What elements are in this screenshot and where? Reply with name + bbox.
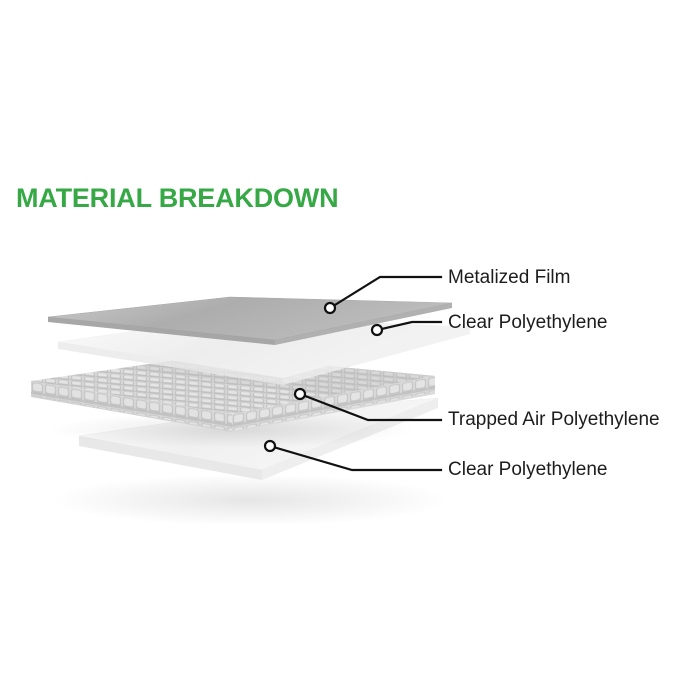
- anchor-dot-clear-polyethylene-top: [372, 325, 382, 335]
- anchor-dot-clear-polyethylene-bottom: [265, 441, 275, 451]
- callout-label-clear-polyethylene-bottom: Clear Polyethylene: [448, 460, 607, 479]
- callout-label-metalized-film: Metalized Film: [448, 268, 570, 287]
- anchor-dot-metalized-film: [325, 303, 335, 313]
- anchor-dot-trapped-air-polyethylene: [295, 389, 305, 399]
- callout-label-clear-polyethylene-top: Clear Polyethylene: [448, 313, 607, 332]
- callout-label-trapped-air-polyethylene: Trapped Air Polyethylene: [448, 410, 660, 429]
- material-breakdown-infographic: MATERIAL BREAKDOWN: [0, 0, 700, 700]
- layer-stack-diagram: [0, 0, 700, 700]
